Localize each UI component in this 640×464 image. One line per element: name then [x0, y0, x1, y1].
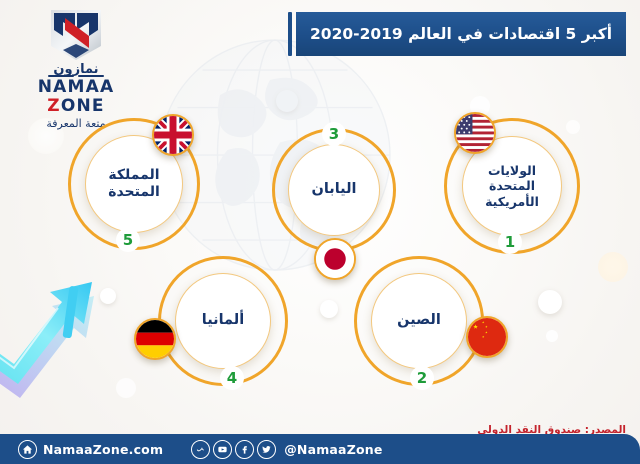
- namaa-zone-monogram-icon: [45, 6, 107, 62]
- flag-germany-icon: [134, 318, 176, 360]
- node-inner-circle: الصين: [371, 273, 467, 369]
- country-name-line: الأمريكية: [485, 194, 539, 209]
- country-name-line: المتحدة: [485, 178, 539, 193]
- country-name-line: ألمانيا: [202, 312, 244, 330]
- twitter-icon[interactable]: [257, 440, 276, 459]
- node-inner-circle: ألمانيا: [175, 273, 271, 369]
- flag-china-icon: [466, 316, 508, 358]
- arabic-network-icon[interactable]: [191, 440, 210, 459]
- country-node-united-states[interactable]: الولايات المتحدة الأمريكية 1: [444, 118, 580, 254]
- bokeh-blob: [538, 290, 562, 314]
- country-node-china[interactable]: الصين 2: [354, 256, 484, 386]
- country-name-line: المملكة: [108, 167, 160, 184]
- bokeh-blob: [598, 252, 628, 282]
- footer-website[interactable]: NamaaZone.com: [18, 440, 163, 459]
- infographic-canvas: نمازون NAMAA ZONE متعة المعرفة أكبر 5 اق…: [0, 0, 640, 464]
- bokeh-blob: [116, 378, 136, 398]
- country-node-united-kingdom[interactable]: المملكة المتحدة 5: [68, 118, 200, 250]
- bokeh-blob: [320, 300, 338, 318]
- brand-logo: نمازون NAMAA ZONE متعة المعرفة: [12, 6, 140, 130]
- country-name: الولايات المتحدة الأمريكية: [485, 163, 539, 209]
- country-name: اليابان: [311, 181, 356, 199]
- country-name-line: الولايات: [485, 163, 539, 178]
- rank-badge: 3: [322, 122, 346, 146]
- footer-website-label: NamaaZone.com: [43, 442, 163, 457]
- flag-united-kingdom-icon: [152, 114, 194, 156]
- country-name: الصين: [397, 312, 441, 330]
- footer-bar: NamaaZone.com @NamaaZone: [0, 434, 640, 464]
- logo-en-part1: NAMAA: [38, 77, 115, 97]
- logo-en-part2: ONE: [61, 96, 105, 116]
- rank-badge: 5: [116, 228, 140, 252]
- title-banner: أكبر 5 اقتصادات في العالم 2019-2020: [288, 12, 626, 56]
- node-inner-circle: اليابان: [288, 144, 380, 236]
- flag-japan-icon: [314, 238, 356, 280]
- footer-social-links: @NamaaZone: [191, 440, 382, 459]
- country-name: المملكة المتحدة: [108, 167, 160, 201]
- facebook-icon[interactable]: [235, 440, 254, 459]
- rank-badge: 2: [410, 366, 434, 390]
- country-node-germany[interactable]: ألمانيا 4: [158, 256, 288, 386]
- bokeh-blob: [546, 330, 558, 342]
- logo-en-z: Z: [47, 96, 61, 116]
- footer-handle: @NamaaZone: [284, 442, 382, 457]
- country-name-line: المتحدة: [108, 184, 160, 201]
- logo-english-name: NAMAA ZONE: [12, 78, 140, 116]
- rank-badge: 1: [498, 230, 522, 254]
- rank-badge: 4: [220, 366, 244, 390]
- country-node-japan[interactable]: اليابان 3: [272, 128, 396, 252]
- growth-arrow-icon: [0, 258, 108, 398]
- country-name: ألمانيا: [202, 312, 244, 330]
- bokeh-blob: [276, 90, 298, 112]
- flag-united-states-icon: [454, 112, 496, 154]
- youtube-icon[interactable]: [213, 440, 232, 459]
- home-icon: [18, 440, 37, 459]
- country-name-line: الصين: [397, 312, 441, 330]
- page-title: أكبر 5 اقتصادات في العالم 2019-2020: [296, 12, 626, 56]
- country-name-line: اليابان: [311, 181, 356, 199]
